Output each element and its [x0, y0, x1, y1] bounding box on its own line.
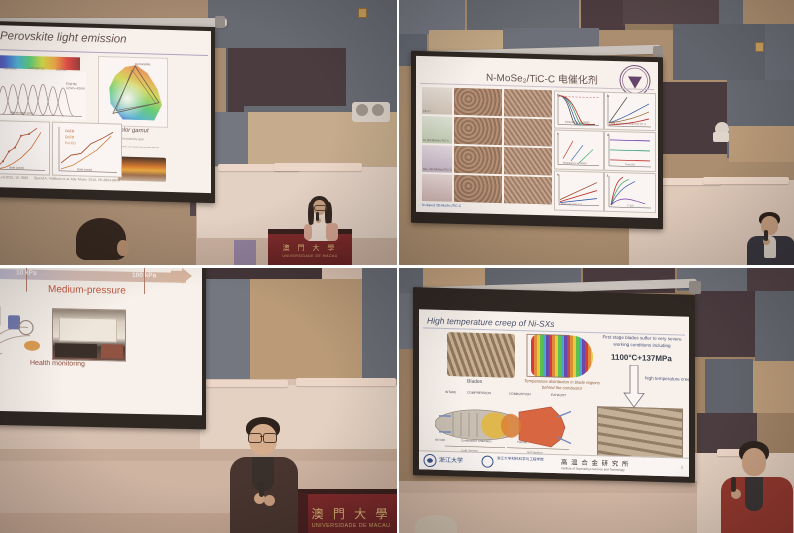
tick-line	[144, 267, 145, 294]
projector-screen: 10 kPa 100 kPa ...ure Medium-pressure	[0, 267, 206, 429]
wall-panel	[765, 24, 794, 80]
sem-footer-label: N-doped 3D-MoSe₂/TiC-C	[422, 203, 461, 208]
whiteboard-tray	[274, 163, 362, 171]
wall-panel	[228, 48, 346, 114]
bounding-box	[525, 330, 581, 384]
podium-logo-en: UNIVERSIDADE DE MACAU	[298, 523, 397, 529]
podium: 澳 門 大 學 UNIVERSIDADE DE MACAU	[298, 489, 397, 533]
condition-note: First stage blades suffer to very severe…	[599, 334, 685, 350]
lecture-hall-scene: Perovskite light emission	[0, 0, 397, 266]
jet-part-combustion: COMBUSTION	[509, 392, 531, 397]
slide-content: Perovskite light emission	[0, 25, 211, 193]
wall-socket	[755, 42, 764, 52]
series-label-4: CsPbI3	[56, 68, 66, 72]
projector-screen: Perovskite light emission	[0, 21, 215, 203]
school-logo-icon	[481, 455, 494, 468]
footer-school-cn: 浙江大学材料科学与工程学院	[497, 456, 544, 462]
microphone[interactable]	[731, 477, 736, 492]
photo-collage: Perovskite light emission	[0, 0, 794, 533]
wall-rail	[0, 449, 397, 461]
microphone[interactable]	[316, 212, 319, 221]
chart-d: d Time (h)	[604, 131, 656, 172]
sem-image	[454, 146, 502, 174]
sem-row-label-1: TiC-C	[423, 109, 431, 113]
collage-panel-bottom-left: 10 kPa 100 kPa ...ure Medium-pressure	[0, 267, 397, 533]
panel-letter-b: b	[607, 94, 609, 98]
footer-institute-en: Institute of Superalloys Science and Tec…	[561, 466, 625, 472]
whiteboard-tray	[703, 177, 789, 184]
chart-f: f Z' (Ω)	[604, 172, 656, 213]
wall-accent-tile	[234, 240, 256, 266]
speaker-person	[300, 196, 340, 238]
slide-title: High temperature creep of Ni-SXs	[427, 315, 555, 329]
axis-label-wavelength: Wavelength (nm)	[10, 110, 33, 115]
wall-panel	[346, 0, 397, 56]
collage-panel-top-left: Perovskite light emission	[0, 0, 397, 266]
podium-logo-cn: 澳 門 大 學	[268, 243, 352, 253]
lecture-hall-scene: 10 kPa 100 kPa ...ure Medium-pressure	[0, 267, 397, 533]
slide-content: 10 kPa 100 kPa ...ure Medium-pressure	[0, 267, 202, 415]
microphone[interactable]	[259, 481, 264, 497]
fwhm-annotation: FWHM 12nm~42nm	[66, 82, 85, 91]
chart-a: a Potential (V vs. RHE)	[554, 90, 604, 129]
collage-gutter-horizontal	[0, 265, 794, 268]
legend-item-peled: PeLED	[65, 141, 76, 145]
blood-pressure-illustration	[0, 301, 50, 364]
chart-b: b Log (current density) (mA cm⁻²)	[604, 92, 656, 131]
wall-panel	[623, 0, 719, 26]
eqe-chart-left: Date (year)	[0, 120, 50, 176]
sem-row-label-3: NH₃ 3D-MoSe₂/TiC-C	[423, 167, 452, 172]
axis-label-date-2: Date (year)	[77, 167, 92, 171]
wall-rail	[397, 481, 697, 493]
jacket-left	[304, 224, 312, 240]
inset-photo	[101, 344, 123, 358]
wall-panel	[204, 279, 250, 379]
speaker-driver-icon	[356, 104, 368, 116]
panel-letter-d: d	[607, 133, 609, 137]
panel-letter-e: e	[557, 173, 559, 177]
panel-letter-a: a	[557, 93, 559, 97]
projector-screen: High temperature creep of Ni-SXs Blades …	[413, 287, 695, 483]
slide-content: N-MoSe₂/TiC-C 电催化剂	[416, 56, 658, 218]
microphone[interactable]	[764, 230, 768, 241]
chart-c: c Potential (V vs. RHE)	[554, 129, 604, 170]
axis-x6: Z' (Ω)	[627, 204, 633, 207]
speaker-driver-icon	[372, 104, 384, 116]
sem-image	[454, 88, 502, 116]
reference-left: Nano Lett 2015, 15, 3692	[0, 175, 28, 180]
panel-letter-c: c	[557, 132, 559, 136]
legend-item-qled: QLED	[65, 135, 74, 139]
cie-chromaticity-box: perovskite	[98, 56, 168, 128]
glasses-bridge	[260, 436, 263, 437]
jet-part-air-inlet: Air Inlet	[435, 438, 445, 442]
podium-top-edge	[298, 489, 397, 494]
wall-panel	[747, 267, 794, 293]
glasses-left-lens	[248, 433, 262, 443]
cie-marker-label: perovskite	[135, 62, 150, 66]
jet-part-turbine: Turbine	[517, 440, 527, 444]
creep-rupture-photo	[597, 406, 683, 462]
wall-panel	[397, 0, 465, 34]
axis-x3: Potential (V vs. RHE)	[563, 162, 587, 166]
pl-spectra-chart: Wavelength (nm)	[0, 70, 86, 121]
collage-panel-bottom-right: High temperature creep of Ni-SXs Blades …	[397, 267, 794, 533]
axis-x4: Time (h)	[625, 163, 635, 166]
wall-panel	[673, 24, 765, 80]
sem-image	[504, 176, 552, 204]
axis-label-date: Date (year)	[9, 165, 24, 169]
wall-plate	[713, 132, 729, 142]
collage-panel-top-right: N-MoSe₂/TiC-C 电催化剂	[397, 0, 794, 266]
wall-panel	[653, 82, 727, 154]
wall-socket	[358, 8, 367, 18]
lecture-hall-scene: N-MoSe₂/TiC-C 电催化剂	[397, 0, 794, 266]
speaker-person	[218, 417, 310, 533]
panel-letter-f: f	[607, 174, 608, 178]
sem-image	[454, 117, 502, 145]
scale-label-low: 10 kPa	[16, 269, 37, 276]
scale-label-high: 100 kPa	[132, 272, 156, 280]
audience-person	[415, 515, 457, 533]
hand-right	[264, 495, 275, 506]
projector-screen: N-MoSe₂/TiC-C 电催化剂	[411, 51, 663, 230]
glasses-right-lens	[263, 433, 277, 443]
sem-image	[504, 89, 552, 117]
axis-x5: Scan rate (mV s⁻¹)	[561, 203, 582, 207]
wall-panel	[729, 126, 794, 162]
jet-engine-schematic: INTAKE COMPRESSION COMBUSTION EXHAUST Ai…	[435, 394, 575, 454]
cie-triangles	[99, 57, 167, 127]
device-photo	[118, 156, 166, 181]
turbine-blades-photo	[447, 332, 515, 378]
wall-panel	[705, 359, 753, 413]
whiteboard-tray	[296, 378, 396, 386]
jet-part-exhaust: EXHAUST	[551, 393, 566, 397]
eqe-chart-right: OLED QLED PeLED Date (year)	[52, 122, 122, 178]
lecture-hall-scene: High temperature creep of Ni-SXs Blades …	[397, 267, 794, 533]
wall-panel	[362, 267, 397, 379]
temperature-caption: Temperature distribution in blade region…	[523, 378, 601, 392]
projector-screen-roller-end	[215, 16, 225, 28]
arrow-right-icon	[171, 268, 193, 288]
jet-part-compression: COMPRESSION	[467, 391, 491, 396]
wall-panel	[753, 361, 794, 413]
projector-screen-roller-end	[689, 281, 701, 294]
monitor-photo	[52, 308, 126, 362]
sem-image-grid: TiC-C Ar 2D-MoSe₂/TiC-C NH₃ 3D-MoSe₂/TiC…	[422, 87, 572, 209]
podium-logo-en: UNIVERSIDADE DE MACAU	[268, 254, 352, 258]
sem-image	[504, 118, 552, 146]
audience-ear	[117, 240, 129, 256]
series-label-3: CsPb(Br/I)3	[28, 66, 45, 70]
jacket-right	[326, 223, 338, 241]
audience-hair	[415, 515, 457, 533]
slide-number: 3	[681, 465, 683, 470]
podium-logo-cn: 澳 門 大 學	[298, 505, 397, 522]
zju-logo-icon	[423, 453, 437, 467]
footer-university-cn: 浙江大学	[439, 455, 463, 465]
schematic-cell	[422, 174, 452, 202]
speaker-person	[747, 212, 794, 266]
jet-part-chambers: Combustion Chambers	[461, 438, 492, 443]
wall-panel	[755, 291, 794, 361]
whiteboard-tray	[206, 380, 288, 387]
audience-person	[72, 218, 134, 266]
series-label-1: CsPbCl3	[4, 66, 17, 70]
illustration-caption: Health monitoring	[30, 360, 85, 368]
monitor-base	[55, 343, 97, 358]
glasses	[314, 205, 327, 211]
wall-panel	[695, 291, 755, 357]
slide-title: Perovskite light emission	[0, 30, 127, 46]
wall-panel	[248, 279, 364, 379]
sem-image	[504, 147, 552, 175]
legend-item-oled: OLED	[65, 129, 74, 133]
region-label-medium: Medium-pressure	[48, 284, 126, 297]
monitor-screen	[59, 317, 117, 342]
wall-panel	[208, 0, 346, 48]
slide-title: N-MoSe₂/TiC-C 电催化剂	[486, 69, 598, 87]
blades-caption: Blades	[467, 379, 482, 385]
condition-value: 1100°C+137MPa	[611, 353, 672, 364]
sem-row-label-2: Ar 2D-MoSe₂/TiC-C	[423, 138, 449, 143]
chart-e: e Scan rate (mV s⁻¹)	[554, 170, 604, 211]
sem-image	[454, 175, 502, 203]
inner-shirt	[745, 477, 763, 511]
axis-x1: Potential (V vs. RHE)	[565, 121, 590, 125]
down-arrow-icon	[623, 365, 645, 410]
jet-part-intake: INTAKE	[445, 390, 456, 394]
speaker-person	[717, 441, 794, 533]
head	[742, 448, 766, 476]
arrow-label: high temperature creep	[645, 376, 689, 382]
